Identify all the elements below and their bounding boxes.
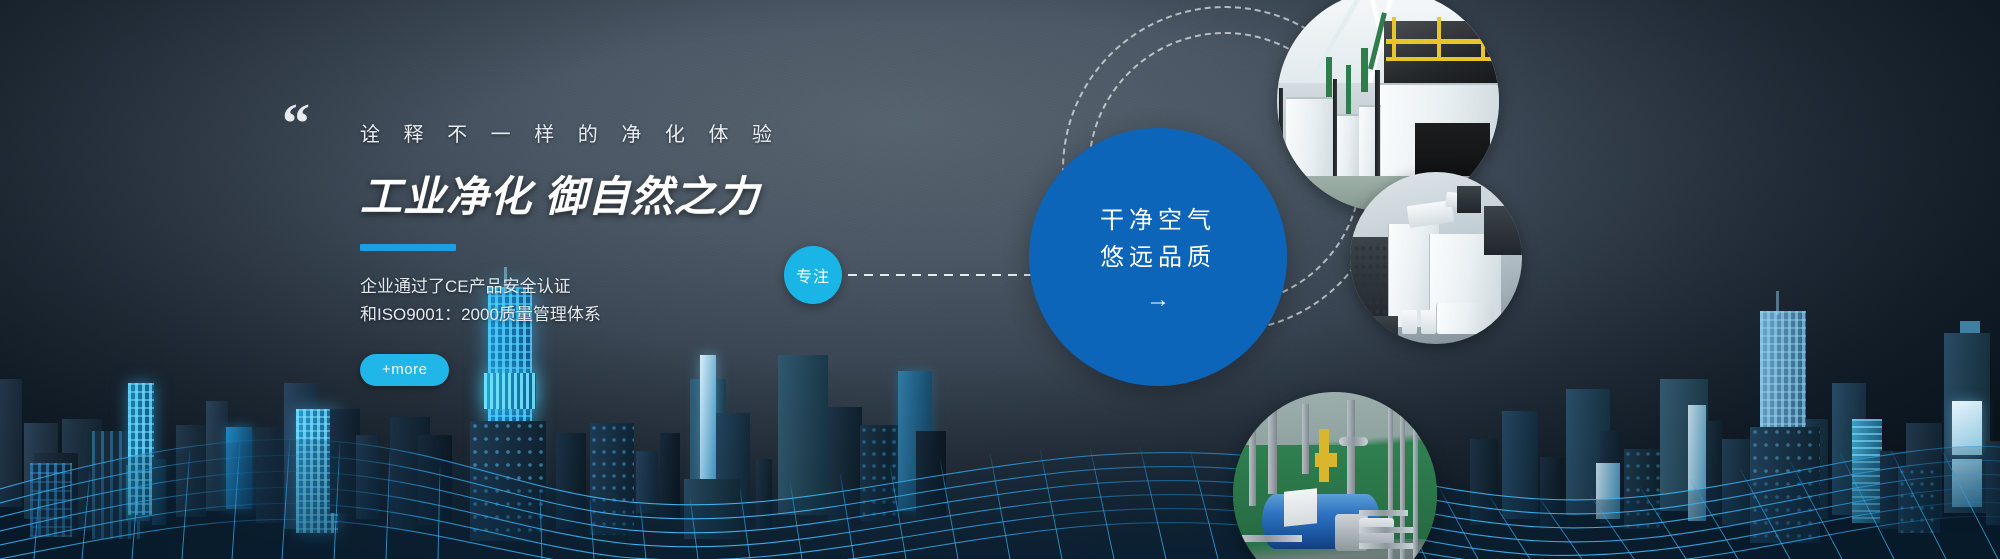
city-skyline-left (0, 269, 2000, 559)
arrow-right-icon[interactable]: → (1146, 288, 1170, 312)
quote-mark-icon: “ (282, 96, 308, 152)
focus-badge-label: 专注 (796, 263, 830, 287)
wireframe-terrain (0, 369, 2000, 559)
more-button[interactable]: +more (360, 354, 449, 386)
city-skyline-right (0, 269, 2000, 559)
textile-machinery-photo[interactable] (1350, 172, 1522, 344)
hero-headline: 工业净化 御自然之力 (360, 163, 820, 224)
body-line-2: 和ISO9001：2000质量管理体系 (360, 301, 820, 329)
hero-subtitle: 诠 释 不 一 样 的 净 化 体 验 (360, 118, 820, 147)
background-vignette (0, 0, 2000, 559)
main-slogan-circle[interactable]: 干净空气 悠远品质 → (1029, 128, 1287, 386)
hero-banner: 专注 干净空气 悠远品质 → (0, 0, 2000, 559)
slogan-line-2: 悠远品质 (1100, 239, 1216, 276)
accent-bar (360, 244, 456, 251)
body-line-1: 企业通过了CE产品安全认证 (360, 273, 820, 301)
hero-copy-block: “ 诠 释 不 一 样 的 净 化 体 验 工业净化 御自然之力 企业通过了CE… (360, 118, 820, 386)
focus-badge[interactable]: 专注 (784, 246, 842, 304)
slogan-line-1: 干净空气 (1100, 202, 1216, 239)
hero-body-text: 企业通过了CE产品安全认证 和ISO9001：2000质量管理体系 (360, 273, 820, 328)
background-noise-texture (0, 0, 2000, 559)
pressure-vessel-photo[interactable] (1233, 392, 1437, 559)
